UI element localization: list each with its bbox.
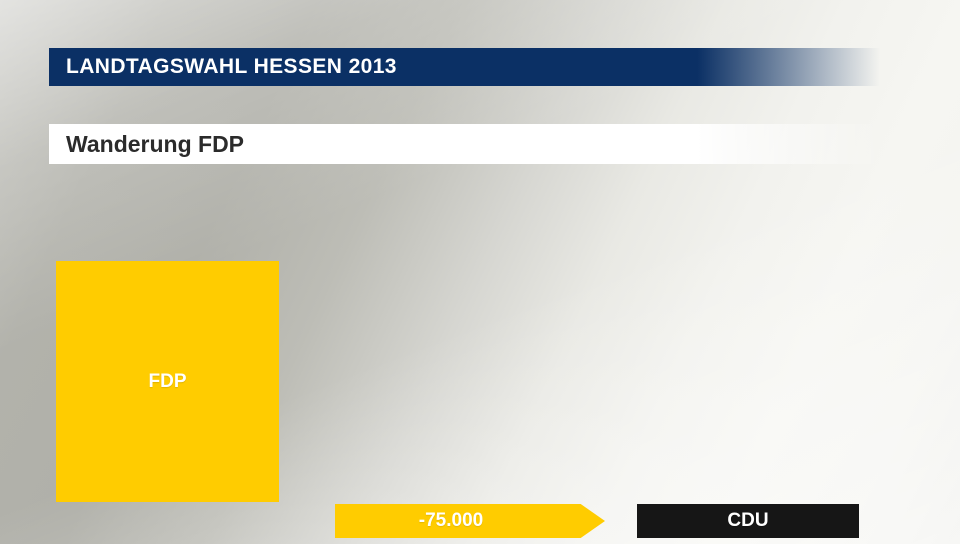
flow-row: -75.000 CDU (0, 504, 960, 538)
flow-rows: -75.000 CDU -48.000 SPD -17.000 Grüne (0, 504, 960, 544)
party-label: CDU (727, 510, 768, 532)
party-box-cdu: CDU (637, 504, 859, 538)
flow-value-label: -75.000 (419, 510, 483, 532)
header-title-bar: LANDTAGSWAHL HESSEN 2013 (49, 48, 880, 86)
header-subtitle-bar: Wanderung FDP (49, 124, 880, 164)
infographic-canvas: LANDTAGSWAHL HESSEN 2013 Wanderung FDP F… (0, 0, 960, 544)
source-party-label: FDP (149, 371, 187, 393)
source-party-block: FDP (56, 261, 279, 502)
page-subtitle: Wanderung FDP (49, 131, 244, 158)
page-title: LANDTAGSWAHL HESSEN 2013 (49, 55, 397, 79)
flow-arrow-cdu: -75.000 (335, 504, 605, 538)
